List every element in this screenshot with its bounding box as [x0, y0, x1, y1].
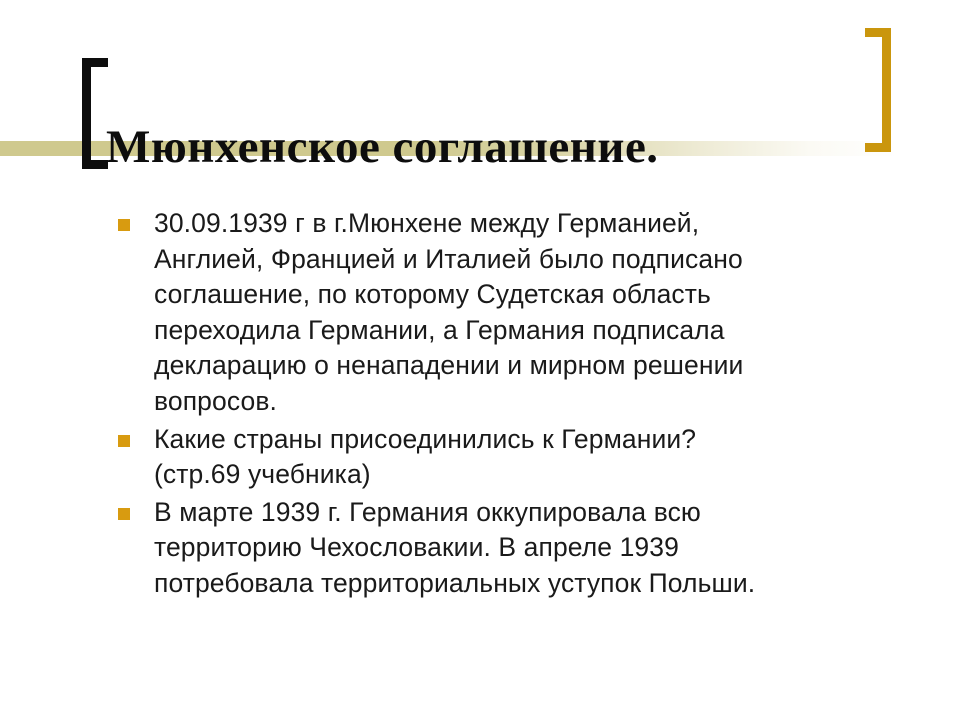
left-bracket-decoration: [82, 58, 108, 169]
list-item: В марте 1939 г. Германия оккупировала вс…: [112, 495, 912, 602]
list-item-text: Какие страны присоединились к Германии? …: [154, 422, 912, 493]
left-bracket-stem: [82, 58, 91, 169]
square-bullet-icon: [118, 435, 130, 447]
page-title: Мюнхенское соглашение.: [106, 119, 886, 175]
right-bracket-decoration: [866, 28, 891, 152]
left-bracket-bottom-arm: [82, 160, 108, 169]
square-bullet-icon: [118, 219, 130, 231]
square-bullet-icon: [118, 508, 130, 520]
right-bracket-bottom-arm: [865, 143, 891, 152]
slide-canvas: Мюнхенское соглашение. 30.09.1939 г в г.…: [0, 0, 960, 720]
bullet-list: 30.09.1939 г в г.Мюнхене между Германией…: [112, 206, 912, 604]
list-item: Какие страны присоединились к Германии? …: [112, 422, 912, 493]
list-item: 30.09.1939 г в г.Мюнхене между Германией…: [112, 206, 912, 420]
list-item-text: 30.09.1939 г в г.Мюнхене между Германией…: [154, 206, 912, 420]
right-bracket-stem: [882, 28, 891, 152]
list-item-text: В марте 1939 г. Германия оккупировала вс…: [154, 495, 912, 602]
